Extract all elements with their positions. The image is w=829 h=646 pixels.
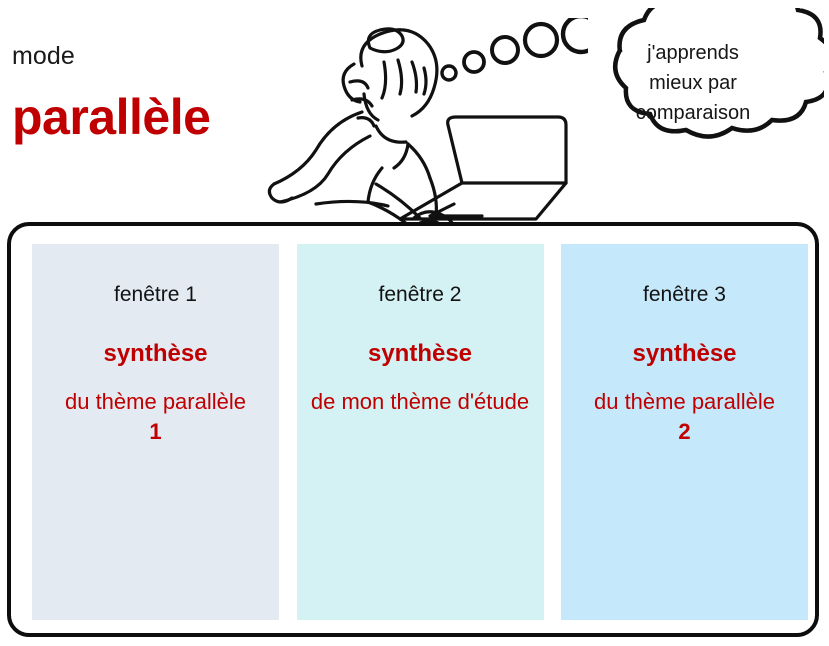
- window-label-1: fenêtre 1: [32, 282, 279, 308]
- window-label-3: fenêtre 3: [561, 282, 808, 308]
- mode-label: mode: [12, 42, 75, 71]
- slide-canvas: mode parallèle: [0, 0, 829, 646]
- window-subtitle-text-1: du thème parallèle: [65, 389, 246, 414]
- window-subtitle-text-2: de mon thème: [311, 389, 452, 414]
- thought-bubble-icon: [562, 8, 824, 168]
- window-subtitle-1: du thème parallèle 1: [32, 387, 279, 447]
- window-number-1: 1: [32, 417, 279, 447]
- windows-panel: fenêtre 1 synthèse du thème parallèle 1 …: [7, 222, 819, 637]
- window-number-2: d'étude: [458, 389, 530, 414]
- window-subtitle-2: de mon thème d'étude: [297, 387, 544, 417]
- window-heading-3: synthèse: [561, 340, 808, 368]
- window-subtitle-text-3: du thème parallèle: [594, 389, 775, 414]
- window-label-2: fenêtre 2: [297, 282, 544, 308]
- window-subtitle-3: du thème parallèle 2: [561, 387, 808, 447]
- window-column-2[interactable]: fenêtre 2 synthèse de mon thème d'étude: [297, 244, 544, 620]
- window-heading-1: synthèse: [32, 340, 279, 368]
- window-column-3[interactable]: fenêtre 3 synthèse du thème parallèle 2: [561, 244, 808, 620]
- window-number-3: 2: [561, 417, 808, 447]
- window-column-1[interactable]: fenêtre 1 synthèse du thème parallèle 1: [32, 244, 279, 620]
- window-heading-2: synthèse: [297, 340, 544, 368]
- page-title: parallèle: [12, 88, 210, 146]
- windows-columns: fenêtre 1 synthèse du thème parallèle 1 …: [32, 244, 808, 620]
- thought-bubble: j'apprends mieux par comparaison: [562, 8, 824, 168]
